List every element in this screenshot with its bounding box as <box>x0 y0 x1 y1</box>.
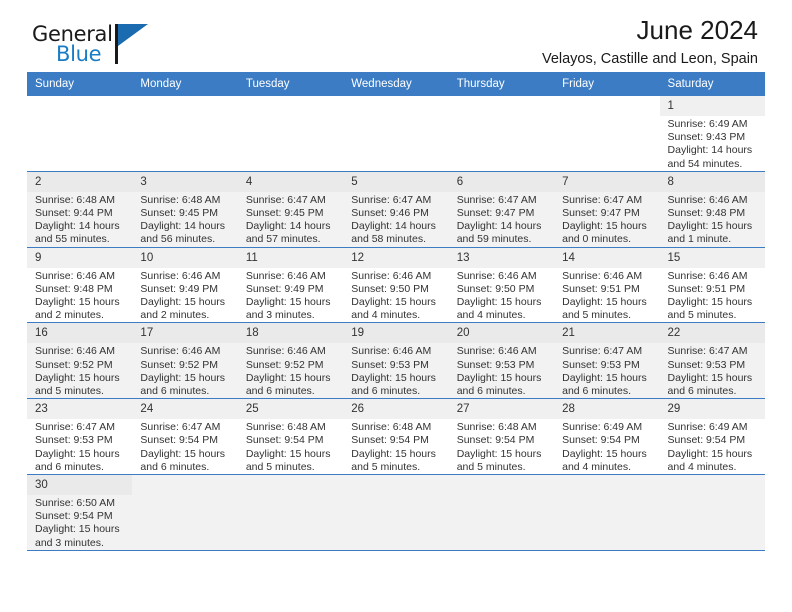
day-details: Sunrise: 6:46 AMSunset: 9:53 PMDaylight:… <box>449 343 554 398</box>
calendar-day-cell[interactable]: 18Sunrise: 6:46 AMSunset: 9:52 PMDayligh… <box>238 323 343 399</box>
daylight-duration-line2: and 6 minutes. <box>246 385 337 398</box>
daylight-duration-line2: and 56 minutes. <box>140 233 231 246</box>
daylight-duration-line1: Daylight: 15 hours <box>140 448 231 461</box>
daylight-duration-line2: and 3 minutes. <box>246 309 337 322</box>
daylight-duration-line2: and 4 minutes. <box>562 461 653 474</box>
sunset-time: Sunset: 9:49 PM <box>140 283 231 296</box>
daylight-duration-line1: Daylight: 15 hours <box>457 372 548 385</box>
calendar-day-cell[interactable]: 2Sunrise: 6:48 AMSunset: 9:44 PMDaylight… <box>27 171 132 247</box>
page-subtitle: Velayos, Castille and Leon, Spain <box>542 48 758 70</box>
sunrise-time: Sunrise: 6:46 AM <box>351 345 442 358</box>
day-details: Sunrise: 6:46 AMSunset: 9:51 PMDaylight:… <box>660 268 765 323</box>
day-number: 14 <box>554 248 659 268</box>
day-number: 1 <box>660 96 765 116</box>
calendar-day-cell-empty <box>132 96 237 171</box>
day-number: 27 <box>449 399 554 419</box>
sunset-time: Sunset: 9:45 PM <box>140 207 231 220</box>
sunrise-time: Sunrise: 6:47 AM <box>246 194 337 207</box>
day-number: 16 <box>27 323 132 343</box>
weekday-header-monday: Monday <box>132 72 237 96</box>
sunrise-time: Sunrise: 6:46 AM <box>246 270 337 283</box>
sunrise-time: Sunrise: 6:47 AM <box>351 194 442 207</box>
sunrise-time: Sunrise: 6:46 AM <box>140 345 231 358</box>
daylight-duration-line1: Daylight: 15 hours <box>668 448 759 461</box>
daylight-duration-line2: and 4 minutes. <box>457 309 548 322</box>
daylight-duration-line2: and 4 minutes. <box>668 461 759 474</box>
day-details: Sunrise: 6:47 AMSunset: 9:53 PMDaylight:… <box>660 343 765 398</box>
daylight-duration-line2: and 55 minutes. <box>35 233 126 246</box>
sunset-time: Sunset: 9:53 PM <box>35 434 126 447</box>
calendar-day-cell[interactable]: 11Sunrise: 6:46 AMSunset: 9:49 PMDayligh… <box>238 247 343 323</box>
daylight-duration-line1: Daylight: 14 hours <box>35 220 126 233</box>
sunset-time: Sunset: 9:53 PM <box>351 359 442 372</box>
calendar-header-row: SundayMondayTuesdayWednesdayThursdayFrid… <box>27 72 765 96</box>
calendar-day-cell[interactable]: 1Sunrise: 6:49 AMSunset: 9:43 PMDaylight… <box>660 96 765 171</box>
sunrise-time: Sunrise: 6:50 AM <box>35 497 126 510</box>
weekday-header-saturday: Saturday <box>660 72 765 96</box>
daylight-duration-line1: Daylight: 14 hours <box>140 220 231 233</box>
calendar-page: General Blue June 2024 Velayos, Castille… <box>0 0 792 612</box>
day-details: Sunrise: 6:47 AMSunset: 9:53 PMDaylight:… <box>27 419 132 474</box>
day-details: Sunrise: 6:47 AMSunset: 9:54 PMDaylight:… <box>132 419 237 474</box>
weekday-headers: SundayMondayTuesdayWednesdayThursdayFrid… <box>27 72 765 96</box>
sunset-time: Sunset: 9:53 PM <box>562 359 653 372</box>
sunrise-time: Sunrise: 6:47 AM <box>140 421 231 434</box>
calendar-day-cell-empty <box>449 475 554 551</box>
daylight-duration-line1: Daylight: 14 hours <box>246 220 337 233</box>
weekday-header-sunday: Sunday <box>27 72 132 96</box>
calendar-day-cell[interactable]: 10Sunrise: 6:46 AMSunset: 9:49 PMDayligh… <box>132 247 237 323</box>
calendar-day-cell-empty <box>343 475 448 551</box>
daylight-duration-line1: Daylight: 14 hours <box>668 144 759 157</box>
calendar-day-cell[interactable]: 21Sunrise: 6:47 AMSunset: 9:53 PMDayligh… <box>554 323 659 399</box>
day-number: 25 <box>238 399 343 419</box>
daylight-duration-line2: and 6 minutes. <box>140 385 231 398</box>
calendar-day-cell-empty <box>238 96 343 171</box>
day-number: 30 <box>27 475 132 495</box>
day-details: Sunrise: 6:48 AMSunset: 9:44 PMDaylight:… <box>27 192 132 247</box>
day-number: 28 <box>554 399 659 419</box>
day-number: 20 <box>449 323 554 343</box>
daylight-duration-line2: and 5 minutes. <box>351 461 442 474</box>
day-details: Sunrise: 6:46 AMSunset: 9:50 PMDaylight:… <box>343 268 448 323</box>
daylight-duration-line2: and 2 minutes. <box>140 309 231 322</box>
day-number: 6 <box>449 172 554 192</box>
sunrise-time: Sunrise: 6:47 AM <box>457 194 548 207</box>
sunrise-time: Sunrise: 6:46 AM <box>668 194 759 207</box>
day-details: Sunrise: 6:46 AMSunset: 9:53 PMDaylight:… <box>343 343 448 398</box>
calendar-week-row: 1Sunrise: 6:49 AMSunset: 9:43 PMDaylight… <box>27 96 765 171</box>
calendar-day-cell[interactable]: 13Sunrise: 6:46 AMSunset: 9:50 PMDayligh… <box>449 247 554 323</box>
daylight-duration-line2: and 5 minutes. <box>35 385 126 398</box>
page-title: June 2024 <box>542 14 758 46</box>
calendar-day-cell[interactable]: 23Sunrise: 6:47 AMSunset: 9:53 PMDayligh… <box>27 399 132 475</box>
day-details: Sunrise: 6:47 AMSunset: 9:47 PMDaylight:… <box>554 192 659 247</box>
sunset-time: Sunset: 9:54 PM <box>246 434 337 447</box>
calendar-day-cell[interactable]: 9Sunrise: 6:46 AMSunset: 9:48 PMDaylight… <box>27 247 132 323</box>
calendar-day-cell[interactable]: 24Sunrise: 6:47 AMSunset: 9:54 PMDayligh… <box>132 399 237 475</box>
day-number: 3 <box>132 172 237 192</box>
sunrise-time: Sunrise: 6:46 AM <box>35 270 126 283</box>
daylight-duration-line1: Daylight: 15 hours <box>35 296 126 309</box>
calendar-day-cell[interactable]: 17Sunrise: 6:46 AMSunset: 9:52 PMDayligh… <box>132 323 237 399</box>
daylight-duration-line1: Daylight: 15 hours <box>246 296 337 309</box>
sunrise-sunset-calendar: SundayMondayTuesdayWednesdayThursdayFrid… <box>27 72 765 551</box>
day-details: Sunrise: 6:46 AMSunset: 9:48 PMDaylight:… <box>660 192 765 247</box>
calendar-week-row: 2Sunrise: 6:48 AMSunset: 9:44 PMDaylight… <box>27 171 765 247</box>
daylight-duration-line2: and 6 minutes. <box>562 385 653 398</box>
sunset-time: Sunset: 9:54 PM <box>562 434 653 447</box>
daylight-duration-line2: and 6 minutes. <box>140 461 231 474</box>
daylight-duration-line1: Daylight: 15 hours <box>562 448 653 461</box>
calendar-day-cell-empty <box>449 96 554 171</box>
daylight-duration-line2: and 5 minutes. <box>562 309 653 322</box>
calendar-day-cell-empty <box>660 475 765 551</box>
calendar-day-cell[interactable]: 19Sunrise: 6:46 AMSunset: 9:53 PMDayligh… <box>343 323 448 399</box>
calendar-week-row: 9Sunrise: 6:46 AMSunset: 9:48 PMDaylight… <box>27 247 765 323</box>
day-number: 26 <box>343 399 448 419</box>
daylight-duration-line2: and 3 minutes. <box>35 537 126 550</box>
day-details: Sunrise: 6:48 AMSunset: 9:54 PMDaylight:… <box>343 419 448 474</box>
weekday-header-friday: Friday <box>554 72 659 96</box>
calendar-week-row: 16Sunrise: 6:46 AMSunset: 9:52 PMDayligh… <box>27 323 765 399</box>
sunset-time: Sunset: 9:44 PM <box>35 207 126 220</box>
daylight-duration-line1: Daylight: 15 hours <box>457 448 548 461</box>
calendar-day-cell[interactable]: 20Sunrise: 6:46 AMSunset: 9:53 PMDayligh… <box>449 323 554 399</box>
day-details: Sunrise: 6:46 AMSunset: 9:49 PMDaylight:… <box>238 268 343 323</box>
sunrise-time: Sunrise: 6:49 AM <box>668 421 759 434</box>
day-details: Sunrise: 6:46 AMSunset: 9:51 PMDaylight:… <box>554 268 659 323</box>
sunrise-time: Sunrise: 6:46 AM <box>668 270 759 283</box>
day-details: Sunrise: 6:46 AMSunset: 9:52 PMDaylight:… <box>27 343 132 398</box>
day-details: Sunrise: 6:47 AMSunset: 9:46 PMDaylight:… <box>343 192 448 247</box>
sunset-time: Sunset: 9:54 PM <box>457 434 548 447</box>
day-details: Sunrise: 6:46 AMSunset: 9:48 PMDaylight:… <box>27 268 132 323</box>
daylight-duration-line2: and 6 minutes. <box>35 461 126 474</box>
calendar-day-cell[interactable]: 26Sunrise: 6:48 AMSunset: 9:54 PMDayligh… <box>343 399 448 475</box>
daylight-duration-line1: Daylight: 15 hours <box>351 372 442 385</box>
day-number: 19 <box>343 323 448 343</box>
sunset-time: Sunset: 9:50 PM <box>457 283 548 296</box>
calendar-day-cell[interactable]: 7Sunrise: 6:47 AMSunset: 9:47 PMDaylight… <box>554 171 659 247</box>
day-number: 18 <box>238 323 343 343</box>
calendar-body: 1Sunrise: 6:49 AMSunset: 9:43 PMDaylight… <box>27 96 765 550</box>
daylight-duration-line1: Daylight: 15 hours <box>668 296 759 309</box>
day-number: 12 <box>343 248 448 268</box>
daylight-duration-line2: and 4 minutes. <box>351 309 442 322</box>
day-number: 17 <box>132 323 237 343</box>
day-details: Sunrise: 6:47 AMSunset: 9:47 PMDaylight:… <box>449 192 554 247</box>
daylight-duration-line1: Daylight: 15 hours <box>35 448 126 461</box>
day-number: 8 <box>660 172 765 192</box>
day-number: 2 <box>27 172 132 192</box>
sunrise-time: Sunrise: 6:46 AM <box>351 270 442 283</box>
sunset-time: Sunset: 9:48 PM <box>668 207 759 220</box>
sunset-time: Sunset: 9:50 PM <box>351 283 442 296</box>
daylight-duration-line2: and 5 minutes. <box>246 461 337 474</box>
day-number: 15 <box>660 248 765 268</box>
sunrise-time: Sunrise: 6:47 AM <box>562 194 653 207</box>
daylight-duration-line1: Daylight: 15 hours <box>562 372 653 385</box>
daylight-duration-line2: and 59 minutes. <box>457 233 548 246</box>
sunset-time: Sunset: 9:51 PM <box>668 283 759 296</box>
calendar-day-cell[interactable]: 6Sunrise: 6:47 AMSunset: 9:47 PMDaylight… <box>449 171 554 247</box>
day-number: 29 <box>660 399 765 419</box>
daylight-duration-line2: and 0 minutes. <box>562 233 653 246</box>
daylight-duration-line2: and 2 minutes. <box>35 309 126 322</box>
calendar-day-cell[interactable]: 27Sunrise: 6:48 AMSunset: 9:54 PMDayligh… <box>449 399 554 475</box>
calendar-day-cell[interactable]: 12Sunrise: 6:46 AMSunset: 9:50 PMDayligh… <box>343 247 448 323</box>
day-number: 11 <box>238 248 343 268</box>
sunrise-time: Sunrise: 6:47 AM <box>668 345 759 358</box>
sunset-time: Sunset: 9:45 PM <box>246 207 337 220</box>
sunset-time: Sunset: 9:52 PM <box>140 359 231 372</box>
daylight-duration-line2: and 6 minutes. <box>668 385 759 398</box>
sunrise-time: Sunrise: 6:48 AM <box>140 194 231 207</box>
day-details: Sunrise: 6:49 AMSunset: 9:54 PMDaylight:… <box>660 419 765 474</box>
calendar-day-cell[interactable]: 16Sunrise: 6:46 AMSunset: 9:52 PMDayligh… <box>27 323 132 399</box>
daylight-duration-line1: Daylight: 15 hours <box>668 372 759 385</box>
day-number: 24 <box>132 399 237 419</box>
daylight-duration-line2: and 54 minutes. <box>668 158 759 171</box>
calendar-day-cell-empty <box>554 96 659 171</box>
sunset-time: Sunset: 9:52 PM <box>246 359 337 372</box>
day-details: Sunrise: 6:48 AMSunset: 9:54 PMDaylight:… <box>449 419 554 474</box>
weekday-header-tuesday: Tuesday <box>238 72 343 96</box>
day-details: Sunrise: 6:47 AMSunset: 9:53 PMDaylight:… <box>554 343 659 398</box>
sunrise-time: Sunrise: 6:49 AM <box>668 118 759 131</box>
sunrise-time: Sunrise: 6:46 AM <box>457 345 548 358</box>
sunrise-time: Sunrise: 6:46 AM <box>35 345 126 358</box>
logo-text-blue: Blue <box>56 42 101 66</box>
day-details: Sunrise: 6:47 AMSunset: 9:45 PMDaylight:… <box>238 192 343 247</box>
day-number: 23 <box>27 399 132 419</box>
calendar-day-cell[interactable]: 3Sunrise: 6:48 AMSunset: 9:45 PMDaylight… <box>132 171 237 247</box>
daylight-duration-line1: Daylight: 15 hours <box>562 296 653 309</box>
calendar-day-cell-empty <box>238 475 343 551</box>
sunset-time: Sunset: 9:54 PM <box>668 434 759 447</box>
sunrise-time: Sunrise: 6:46 AM <box>562 270 653 283</box>
daylight-duration-line2: and 6 minutes. <box>457 385 548 398</box>
daylight-duration-line2: and 5 minutes. <box>668 309 759 322</box>
calendar-day-cell[interactable]: 14Sunrise: 6:46 AMSunset: 9:51 PMDayligh… <box>554 247 659 323</box>
daylight-duration-line1: Daylight: 15 hours <box>35 372 126 385</box>
calendar-day-cell[interactable]: 5Sunrise: 6:47 AMSunset: 9:46 PMDaylight… <box>343 171 448 247</box>
sunset-time: Sunset: 9:52 PM <box>35 359 126 372</box>
daylight-duration-line1: Daylight: 15 hours <box>351 296 442 309</box>
calendar-day-cell[interactable]: 29Sunrise: 6:49 AMSunset: 9:54 PMDayligh… <box>660 399 765 475</box>
daylight-duration-line1: Daylight: 15 hours <box>351 448 442 461</box>
day-details: Sunrise: 6:46 AMSunset: 9:49 PMDaylight:… <box>132 268 237 323</box>
calendar-day-cell[interactable]: 8Sunrise: 6:46 AMSunset: 9:48 PMDaylight… <box>660 171 765 247</box>
calendar-day-cell[interactable]: 4Sunrise: 6:47 AMSunset: 9:45 PMDaylight… <box>238 171 343 247</box>
sunset-time: Sunset: 9:54 PM <box>351 434 442 447</box>
daylight-duration-line1: Daylight: 15 hours <box>562 220 653 233</box>
sunset-time: Sunset: 9:47 PM <box>562 207 653 220</box>
sunset-time: Sunset: 9:54 PM <box>35 510 126 523</box>
sunrise-time: Sunrise: 6:46 AM <box>140 270 231 283</box>
sunrise-time: Sunrise: 6:48 AM <box>351 421 442 434</box>
sunrise-time: Sunrise: 6:46 AM <box>457 270 548 283</box>
day-number: 22 <box>660 323 765 343</box>
daylight-duration-line1: Daylight: 15 hours <box>246 448 337 461</box>
day-details: Sunrise: 6:46 AMSunset: 9:52 PMDaylight:… <box>132 343 237 398</box>
calendar-day-cell-empty <box>27 96 132 171</box>
sunset-time: Sunset: 9:46 PM <box>351 207 442 220</box>
calendar-week-row: 30Sunrise: 6:50 AMSunset: 9:54 PMDayligh… <box>27 475 765 551</box>
logo-triangle-icon <box>118 24 148 46</box>
day-number: 7 <box>554 172 659 192</box>
calendar-day-cell-empty <box>554 475 659 551</box>
day-number: 5 <box>343 172 448 192</box>
sunrise-time: Sunrise: 6:46 AM <box>246 345 337 358</box>
daylight-duration-line2: and 1 minute. <box>668 233 759 246</box>
sunset-time: Sunset: 9:53 PM <box>668 359 759 372</box>
daylight-duration-line1: Daylight: 15 hours <box>457 296 548 309</box>
weekday-header-wednesday: Wednesday <box>343 72 448 96</box>
sunset-time: Sunset: 9:51 PM <box>562 283 653 296</box>
calendar-week-row: 23Sunrise: 6:47 AMSunset: 9:53 PMDayligh… <box>27 399 765 475</box>
calendar-day-cell[interactable]: 30Sunrise: 6:50 AMSunset: 9:54 PMDayligh… <box>27 475 132 551</box>
daylight-duration-line1: Daylight: 14 hours <box>351 220 442 233</box>
sunset-time: Sunset: 9:49 PM <box>246 283 337 296</box>
daylight-duration-line2: and 58 minutes. <box>351 233 442 246</box>
calendar-day-cell[interactable]: 28Sunrise: 6:49 AMSunset: 9:54 PMDayligh… <box>554 399 659 475</box>
sunrise-time: Sunrise: 6:48 AM <box>35 194 126 207</box>
day-details: Sunrise: 6:49 AMSunset: 9:43 PMDaylight:… <box>660 116 765 171</box>
day-details: Sunrise: 6:49 AMSunset: 9:54 PMDaylight:… <box>554 419 659 474</box>
daylight-duration-line2: and 57 minutes. <box>246 233 337 246</box>
day-number: 9 <box>27 248 132 268</box>
daylight-duration-line2: and 5 minutes. <box>457 461 548 474</box>
day-number: 4 <box>238 172 343 192</box>
daylight-duration-line1: Daylight: 15 hours <box>140 372 231 385</box>
calendar-day-cell[interactable]: 25Sunrise: 6:48 AMSunset: 9:54 PMDayligh… <box>238 399 343 475</box>
sunset-time: Sunset: 9:47 PM <box>457 207 548 220</box>
daylight-duration-line1: Daylight: 15 hours <box>140 296 231 309</box>
calendar-day-cell-empty <box>132 475 237 551</box>
day-number: 21 <box>554 323 659 343</box>
sunrise-time: Sunrise: 6:47 AM <box>562 345 653 358</box>
sunset-time: Sunset: 9:43 PM <box>668 131 759 144</box>
daylight-duration-line1: Daylight: 14 hours <box>457 220 548 233</box>
sunrise-time: Sunrise: 6:49 AM <box>562 421 653 434</box>
sunrise-time: Sunrise: 6:48 AM <box>246 421 337 434</box>
day-details: Sunrise: 6:48 AMSunset: 9:45 PMDaylight:… <box>132 192 237 247</box>
day-details: Sunrise: 6:46 AMSunset: 9:52 PMDaylight:… <box>238 343 343 398</box>
calendar-day-cell[interactable]: 22Sunrise: 6:47 AMSunset: 9:53 PMDayligh… <box>660 323 765 399</box>
daylight-duration-line1: Daylight: 15 hours <box>35 523 126 536</box>
day-number: 13 <box>449 248 554 268</box>
daylight-duration-line1: Daylight: 15 hours <box>668 220 759 233</box>
day-details: Sunrise: 6:48 AMSunset: 9:54 PMDaylight:… <box>238 419 343 474</box>
weekday-header-thursday: Thursday <box>449 72 554 96</box>
sunset-time: Sunset: 9:53 PM <box>457 359 548 372</box>
title-block: June 2024 Velayos, Castille and Leon, Sp… <box>542 14 758 70</box>
daylight-duration-line2: and 6 minutes. <box>351 385 442 398</box>
day-number: 10 <box>132 248 237 268</box>
calendar-day-cell-empty <box>343 96 448 171</box>
general-blue-logo[interactable]: General Blue <box>32 22 162 68</box>
sunset-time: Sunset: 9:48 PM <box>35 283 126 296</box>
day-details: Sunrise: 6:46 AMSunset: 9:50 PMDaylight:… <box>449 268 554 323</box>
day-details: Sunrise: 6:50 AMSunset: 9:54 PMDaylight:… <box>27 495 132 550</box>
page-header: General Blue June 2024 Velayos, Castille… <box>18 0 774 72</box>
daylight-duration-line1: Daylight: 15 hours <box>246 372 337 385</box>
calendar-day-cell[interactable]: 15Sunrise: 6:46 AMSunset: 9:51 PMDayligh… <box>660 247 765 323</box>
sunrise-time: Sunrise: 6:48 AM <box>457 421 548 434</box>
sunset-time: Sunset: 9:54 PM <box>140 434 231 447</box>
sunrise-time: Sunrise: 6:47 AM <box>35 421 126 434</box>
